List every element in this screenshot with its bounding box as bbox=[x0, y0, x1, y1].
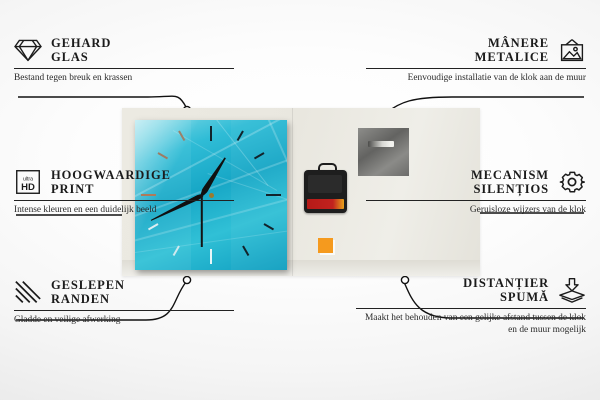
feature-title: MÂNERE METALICE bbox=[475, 36, 549, 65]
feature-description: Gladde en veilige afwerking bbox=[14, 314, 234, 326]
mechanism-highlight bbox=[308, 175, 342, 193]
feature-title-line1: GEHARD bbox=[51, 36, 111, 50]
feature-title: DISTANȚIER SPUMĂ bbox=[463, 276, 549, 305]
feature-title-line2: METALICE bbox=[475, 50, 549, 64]
feature-header: DISTANȚIER SPUMĂ bbox=[356, 276, 586, 305]
clock-mechanism-box bbox=[304, 170, 347, 213]
diamond-icon bbox=[14, 37, 42, 63]
feature-gehard-glas: GEHARD GLAS Bestand tegen breuk en krass… bbox=[14, 36, 234, 84]
feature-description: Maakt het behouden van een gelijke afsta… bbox=[356, 312, 586, 337]
feature-hoogwaardige-print: ultra HD HOOGWAARDIGE PRINT Intense kleu… bbox=[14, 168, 234, 216]
feature-title-line2: SILENȚIOS bbox=[471, 182, 549, 196]
feature-title-line2: PRINT bbox=[51, 182, 171, 196]
ground-edges-icon bbox=[14, 279, 42, 305]
feature-rule bbox=[366, 68, 586, 69]
feature-title-line1: HOOGWAARDIGE bbox=[51, 168, 171, 182]
feature-header: GEHARD GLAS bbox=[14, 36, 234, 65]
feature-distantier-spuma: DISTANȚIER SPUMĂ Maakt het behouden van … bbox=[356, 276, 586, 336]
feature-title-line1: MÂNERE bbox=[475, 36, 549, 50]
battery bbox=[307, 199, 344, 209]
feature-title: MECANISM SILENȚIOS bbox=[471, 168, 549, 197]
feature-title: HOOGWAARDIGE PRINT bbox=[51, 168, 171, 197]
infographic-canvas: GEHARD GLAS Bestand tegen breuk en krass… bbox=[0, 0, 600, 400]
framed-picture-on-wall-icon bbox=[558, 37, 586, 63]
feature-title-line1: MECANISM bbox=[471, 168, 549, 182]
feature-title-line1: DISTANȚIER bbox=[463, 276, 549, 290]
feature-header: MÂNERE METALICE bbox=[366, 36, 586, 65]
feature-title-line2: SPUMĂ bbox=[463, 290, 549, 304]
connector-glass bbox=[18, 96, 186, 107]
feature-title-line1: GESLEPEN bbox=[51, 278, 125, 292]
foam-spacer bbox=[318, 238, 333, 253]
feature-mecanism-silentios: MECANISM SILENȚIOS Geruisloze wijzers va… bbox=[366, 168, 586, 216]
feature-geslepen-randen: GESLEPEN RANDEN Gladde en veilige afwerk… bbox=[14, 278, 234, 326]
feature-manere-metalice: MÂNERE METALICE Eenvoudige installatie v… bbox=[366, 36, 586, 84]
feature-description: Intense kleuren en een duidelijk beeld bbox=[14, 204, 234, 216]
gear-icon bbox=[558, 169, 586, 195]
photo-divider bbox=[292, 108, 293, 276]
svg-text:HD: HD bbox=[21, 182, 35, 193]
feature-description: Geruisloze wijzers van de klok bbox=[366, 204, 586, 216]
feature-title-line2: GLAS bbox=[51, 50, 111, 64]
ultra-hd-badge-icon: ultra HD bbox=[14, 169, 42, 195]
mechanism-hanger-icon bbox=[318, 163, 337, 174]
feature-description: Eenvoudige installatie van de klok aan d… bbox=[366, 72, 586, 84]
feature-rule bbox=[366, 200, 586, 201]
feature-header: ultra HD HOOGWAARDIGE PRINT bbox=[14, 168, 234, 197]
feature-rule bbox=[14, 310, 234, 311]
hanger-slot bbox=[368, 141, 394, 147]
feature-rule bbox=[14, 68, 234, 69]
feature-description: Bestand tegen breuk en krassen bbox=[14, 72, 234, 84]
feature-title-line2: RANDEN bbox=[51, 292, 125, 306]
feature-rule bbox=[356, 308, 586, 309]
feature-header: MECANISM SILENȚIOS bbox=[366, 168, 586, 197]
spacer-foam-icon bbox=[558, 277, 586, 303]
feature-rule bbox=[14, 200, 234, 201]
feature-header: GESLEPEN RANDEN bbox=[14, 278, 234, 307]
feature-title: GESLEPEN RANDEN bbox=[51, 278, 125, 307]
feature-title: GEHARD GLAS bbox=[51, 36, 111, 65]
